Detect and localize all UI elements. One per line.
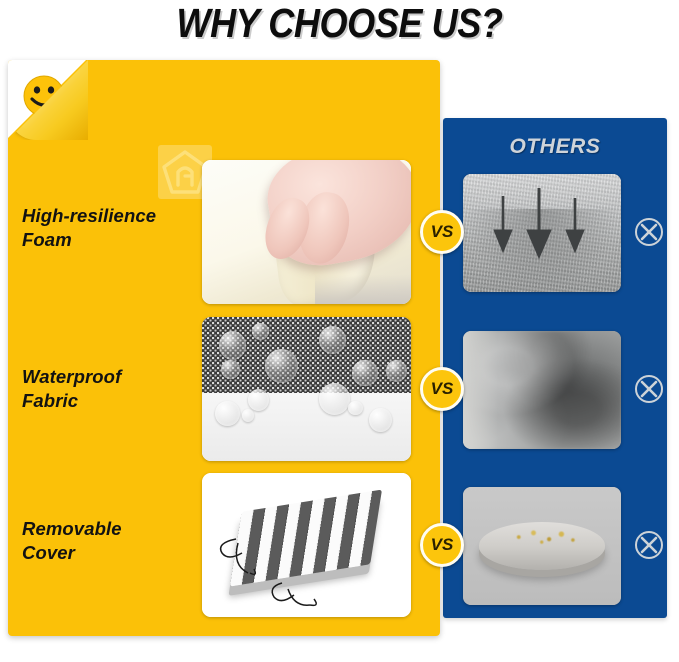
soaked-stained-fabric-photo — [463, 331, 621, 449]
others-panel-label: OTHERS — [443, 135, 667, 159]
hand-squeezing-foam-photo — [202, 160, 411, 304]
feature-label: High-resilience Foam — [22, 204, 202, 252]
why-choose-us-infographic: WHY CHOOSE US? OTHERS OURS High-resilien… — [0, 0, 679, 662]
feature-label-line2: Foam — [22, 229, 72, 250]
feature-label-line1: High-resilience — [22, 205, 156, 226]
page-title: WHY CHOOSE US? — [41, 0, 639, 46]
feature-label-line2: Cover — [22, 542, 75, 563]
compressed-sagging-padding-photo — [463, 174, 621, 292]
feature-label-line1: Waterproof — [22, 366, 121, 387]
striped-cushion-with-ties-photo — [202, 473, 411, 617]
feature-label: Removable Cover — [22, 517, 202, 565]
feature-label-line2: Fabric — [22, 390, 78, 411]
circle-x-icon — [634, 217, 664, 247]
vs-badge: VS — [420, 523, 464, 567]
dirty-stained-round-cushion-photo — [463, 487, 621, 605]
water-beading-on-fabric-photo — [202, 317, 411, 461]
feature-label-line1: Removable — [22, 518, 122, 539]
circle-x-icon — [634, 530, 664, 560]
vs-badge: VS — [420, 367, 464, 411]
circle-x-icon — [634, 374, 664, 404]
feature-label: Waterproof Fabric — [22, 365, 202, 413]
vs-badge: VS — [420, 210, 464, 254]
